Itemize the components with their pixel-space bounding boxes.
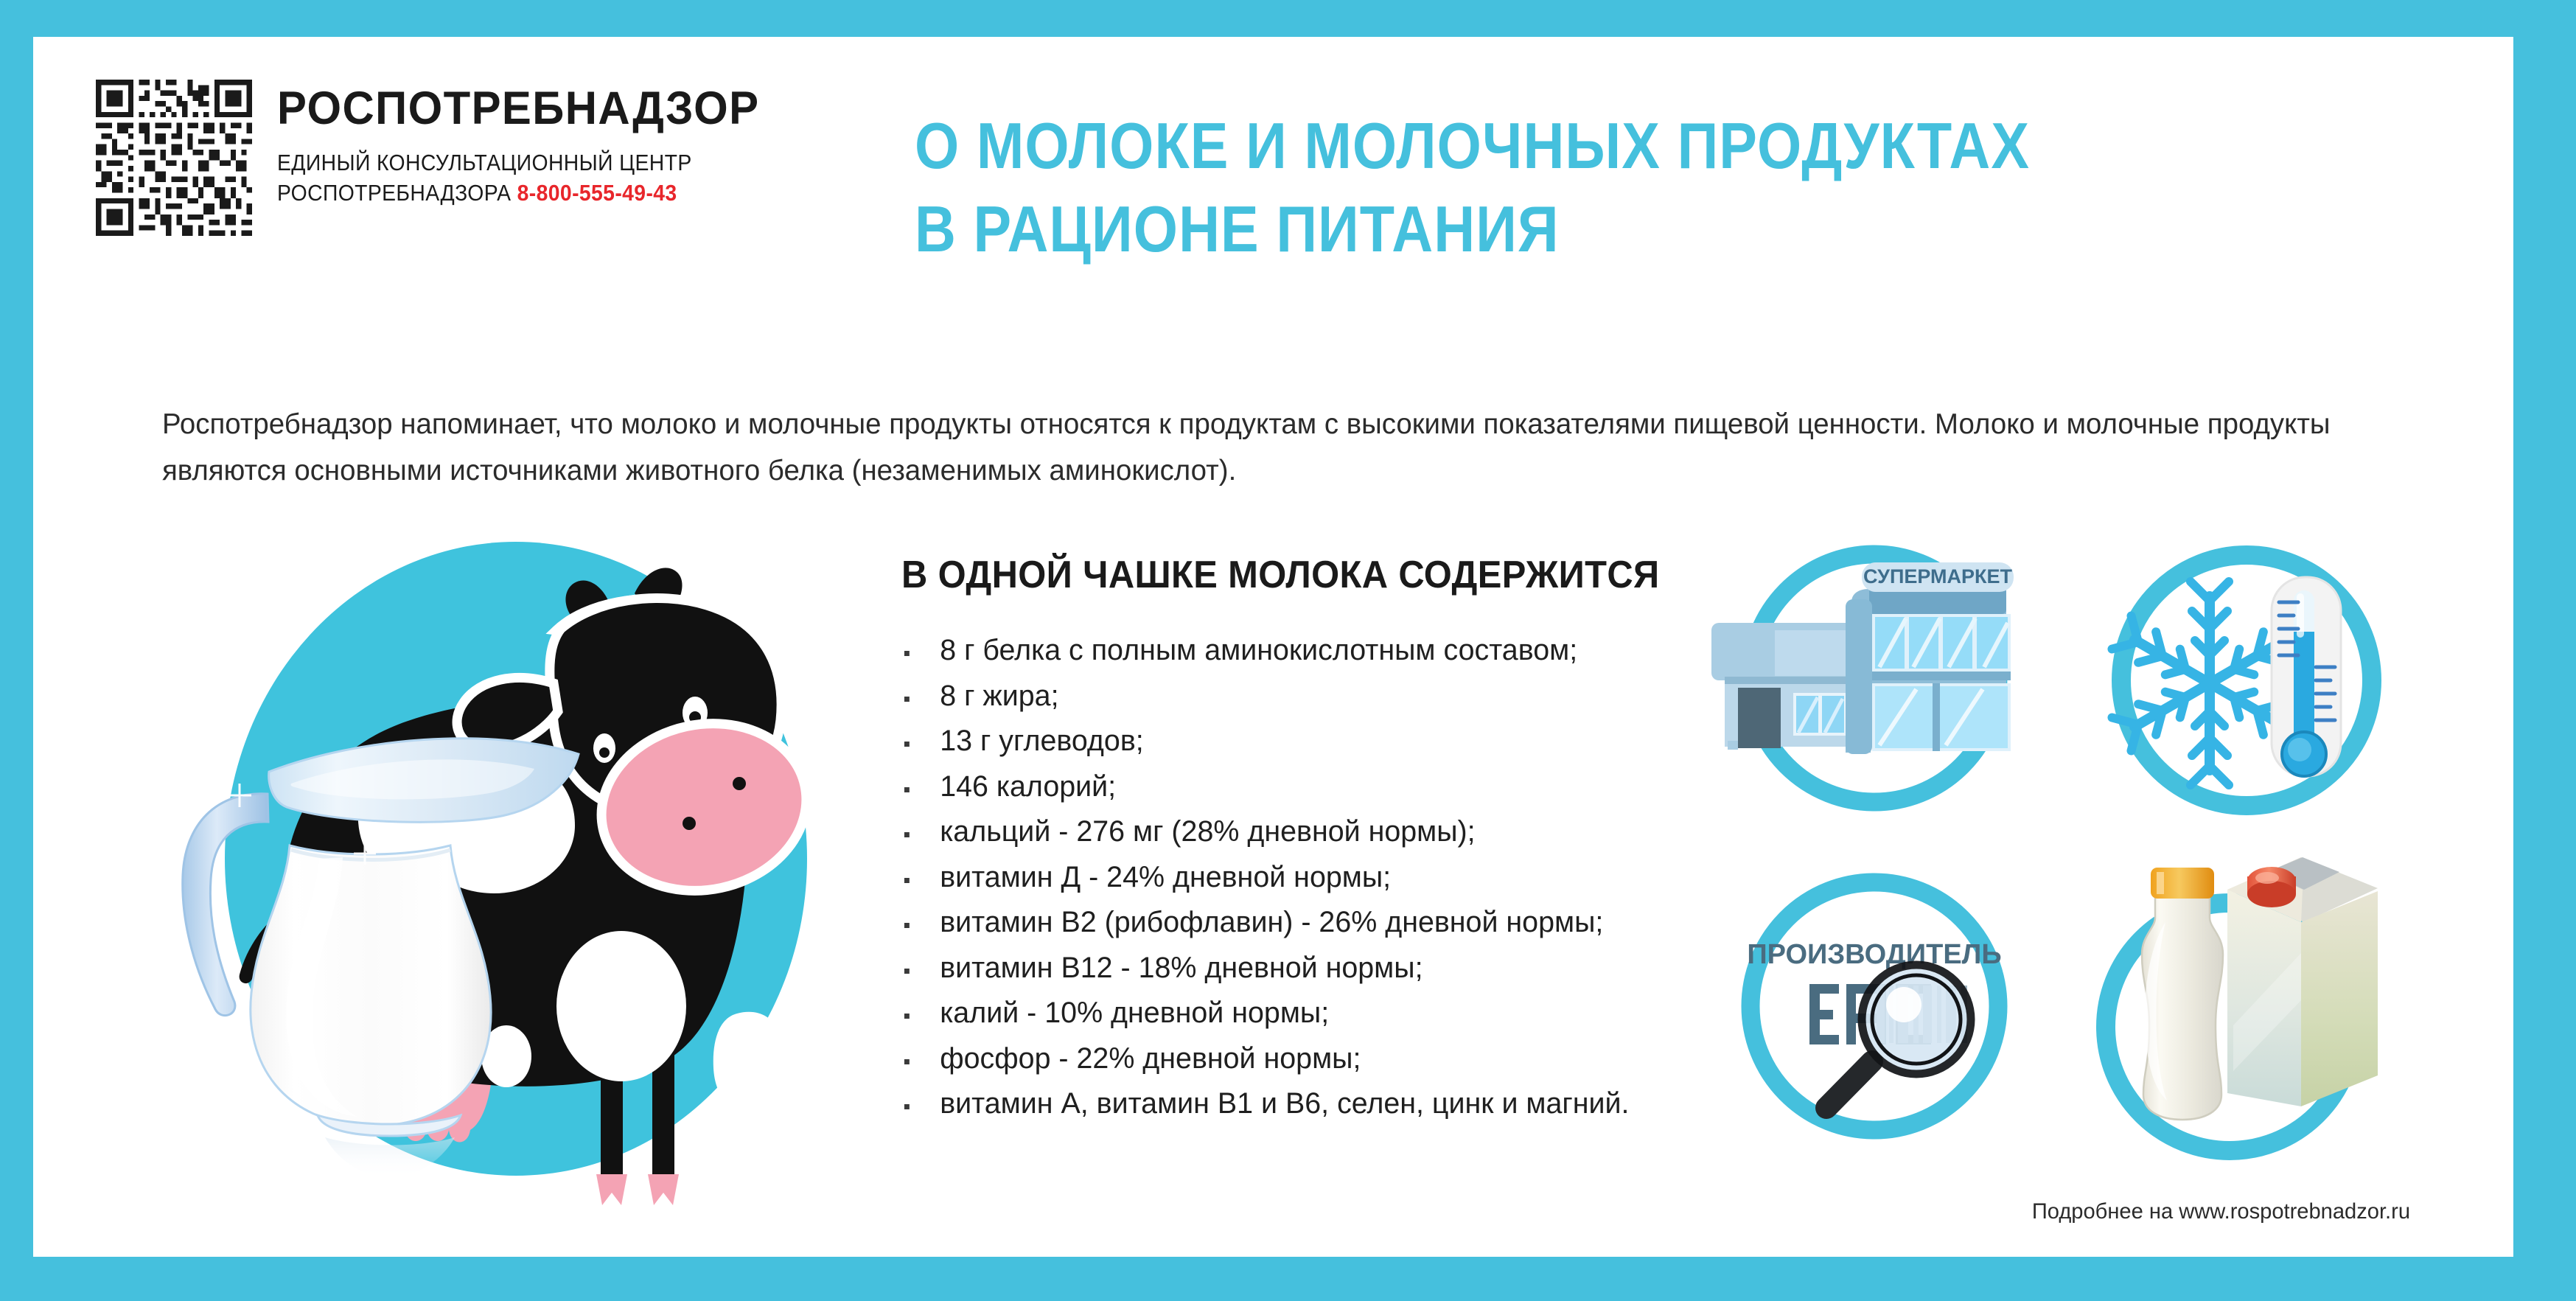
brand-subtitle-line1: ЕДИНЫЙ КОНСУЛЬТАЦИОННЫЙ ЦЕНТР — [277, 150, 692, 175]
poster-sheet: РОСПОТРЕБНАДЗОР ЕДИНЫЙ КОНСУЛЬТАЦИОННЫЙ … — [33, 37, 2513, 1257]
icon-grid: СУПЕРМАРКЕТ — [1695, 520, 2491, 1190]
page-title-line1: О МОЛОКЕ И МОЛОЧНЫХ ПРОДУКТАХ — [915, 105, 2030, 188]
logo-text-block: РОСПОТРЕБНАДЗОР ЕДИНЫЙ КОНСУЛЬТАЦИОННЫЙ … — [277, 80, 785, 208]
supermarket-icon: СУПЕРМАРКЕТ — [1695, 520, 2034, 844]
list-item: витамин В2 (рибофлавин) - 26% дневной но… — [901, 907, 1693, 937]
list-item: калий - 10% дневной нормы; — [901, 998, 1693, 1028]
list-item: кальций - 276 мг (28% дневной нормы); — [901, 817, 1693, 846]
list-item: витамин А, витамин В1 и В6, селен, цинк … — [901, 1089, 1693, 1118]
milk-packaging-icon — [2078, 851, 2418, 1176]
brand-name: РОСПОТРЕБНАДЗОР — [277, 86, 759, 132]
milk-carton — [2227, 857, 2378, 1106]
poster-frame: РОСПОТРЕБНАДЗОР ЕДИНЫЙ КОНСУЛЬТАЦИОННЫЙ … — [0, 0, 2576, 1301]
header: РОСПОТРЕБНАДЗОР ЕДИНЫЙ КОНСУЛЬТАЦИОННЫЙ … — [33, 37, 2513, 258]
rospotrebnadzor-logo: РОСПОТРЕБНАДЗОР ЕДИНЫЙ КОНСУЛЬТАЦИОННЫЙ … — [96, 80, 785, 236]
brand-subtitle-line2: РОСПОТРЕБНАДЗОРА — [277, 181, 511, 206]
intro-paragraph: Роспотребнадзор напоминает, что молоко и… — [162, 401, 2398, 494]
list-item: 8 г жира; — [901, 681, 1693, 711]
cow-and-milk-jug-illustration — [144, 512, 881, 1220]
page-title-line2: В РАЦИОНЕ ПИТАНИЯ — [915, 188, 2030, 271]
snowflake-thermometer-icon — [2078, 520, 2418, 844]
list-item: витамин Д - 24% дневной нормы; — [901, 862, 1693, 892]
facts-heading: В ОДНОЙ ЧАШКЕ МОЛОКА СОДЕРЖИТСЯ — [901, 553, 1657, 597]
qr-code-icon — [96, 80, 252, 236]
list-item: витамин В12 - 18% дневной нормы; — [901, 953, 1693, 983]
manufacturer-magnifier-icon: ПРОИЗВОДИТЕЛЬ — [1695, 851, 2034, 1176]
supermarket-sign-label: СУПЕРМАРКЕТ — [1863, 565, 2012, 587]
list-item: 13 г углеводов; — [901, 726, 1693, 756]
brand-subtitle: ЕДИНЫЙ КОНСУЛЬТАЦИОННЫЙ ЦЕНТР РОСПОТРЕБН… — [277, 148, 750, 208]
list-item: 8 г белка с полным аминокислотным состав… — [901, 635, 1693, 665]
list-item: 146 калорий; — [901, 772, 1693, 801]
page-title: О МОЛОКЕ И МОЛОЧНЫХ ПРОДУКТАХ В РАЦИОНЕ … — [915, 105, 2030, 271]
facts-list: 8 г белка с полным аминокислотным состав… — [901, 635, 1705, 1118]
hotline-phone[interactable]: 8-800-555-49-43 — [517, 181, 677, 206]
footer-link[interactable]: Подробнее на www.rospotrebnadzor.ru — [2032, 1199, 2410, 1224]
list-item: фосфор - 22% дневной нормы; — [901, 1044, 1693, 1073]
thermometer-glyph — [2272, 577, 2341, 776]
facts-block: В ОДНОЙ ЧАШКЕ МОЛОКА СОДЕРЖИТСЯ 8 г белк… — [901, 553, 1705, 1134]
manufacturer-label: ПРОИЗВОДИТЕЛЬ — [1747, 939, 2001, 970]
